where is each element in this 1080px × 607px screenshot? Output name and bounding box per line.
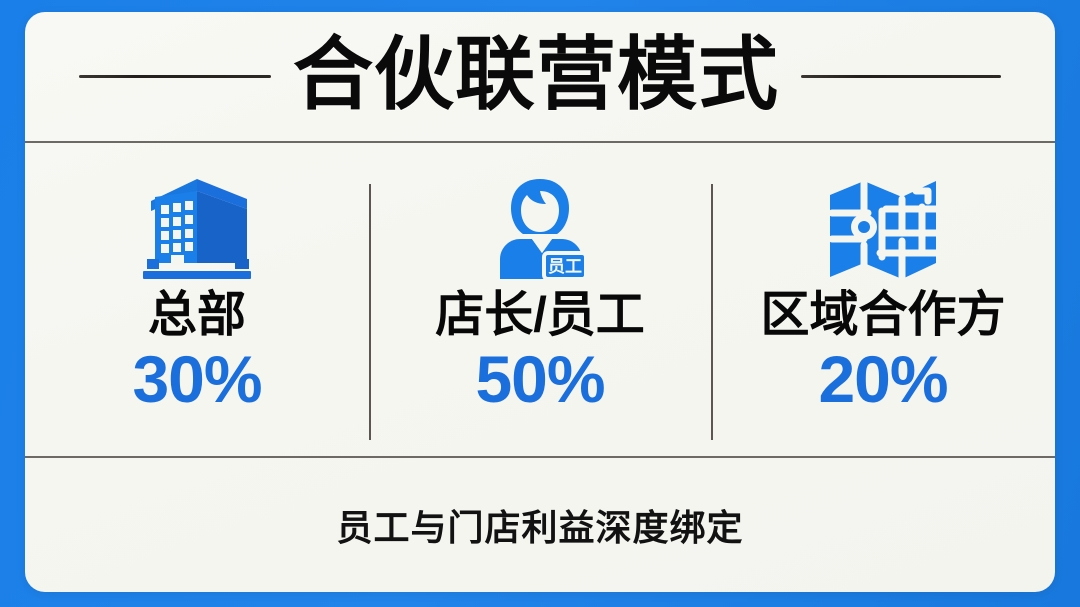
column-percent: 50% — [475, 346, 604, 412]
column-label: 总部 — [148, 291, 246, 340]
office-building-icon — [137, 171, 257, 283]
page-title: 合伙联营模式 — [293, 35, 779, 115]
infographic-canvas: 合伙联营模式 — [0, 0, 1080, 607]
footer-note: 员工与门店利益深度绑定 — [336, 499, 743, 551]
column-headquarters: 总部 30% — [25, 143, 369, 456]
content-card: 合伙联营模式 — [25, 12, 1055, 592]
staff-person-icon: 员工 — [488, 171, 592, 283]
title-rule-left — [79, 75, 271, 78]
column-regional-partner: 区域合作方 20% — [711, 143, 1055, 456]
footer-band: 员工与门店利益深度绑定 — [25, 458, 1055, 592]
column-percent: 20% — [818, 346, 947, 412]
column-label: 区域合作方 — [760, 291, 1005, 340]
column-store-staff: 员工 店长/员工 50% — [369, 143, 711, 456]
column-label: 店长/员工 — [435, 291, 645, 340]
folded-map-icon — [824, 171, 942, 283]
staff-badge-text: 员工 — [548, 257, 582, 277]
share-columns: 总部 30% — [25, 143, 1055, 456]
title-band: 合伙联营模式 — [25, 12, 1055, 141]
column-percent: 30% — [132, 346, 261, 412]
title-rule-right — [801, 75, 1001, 78]
